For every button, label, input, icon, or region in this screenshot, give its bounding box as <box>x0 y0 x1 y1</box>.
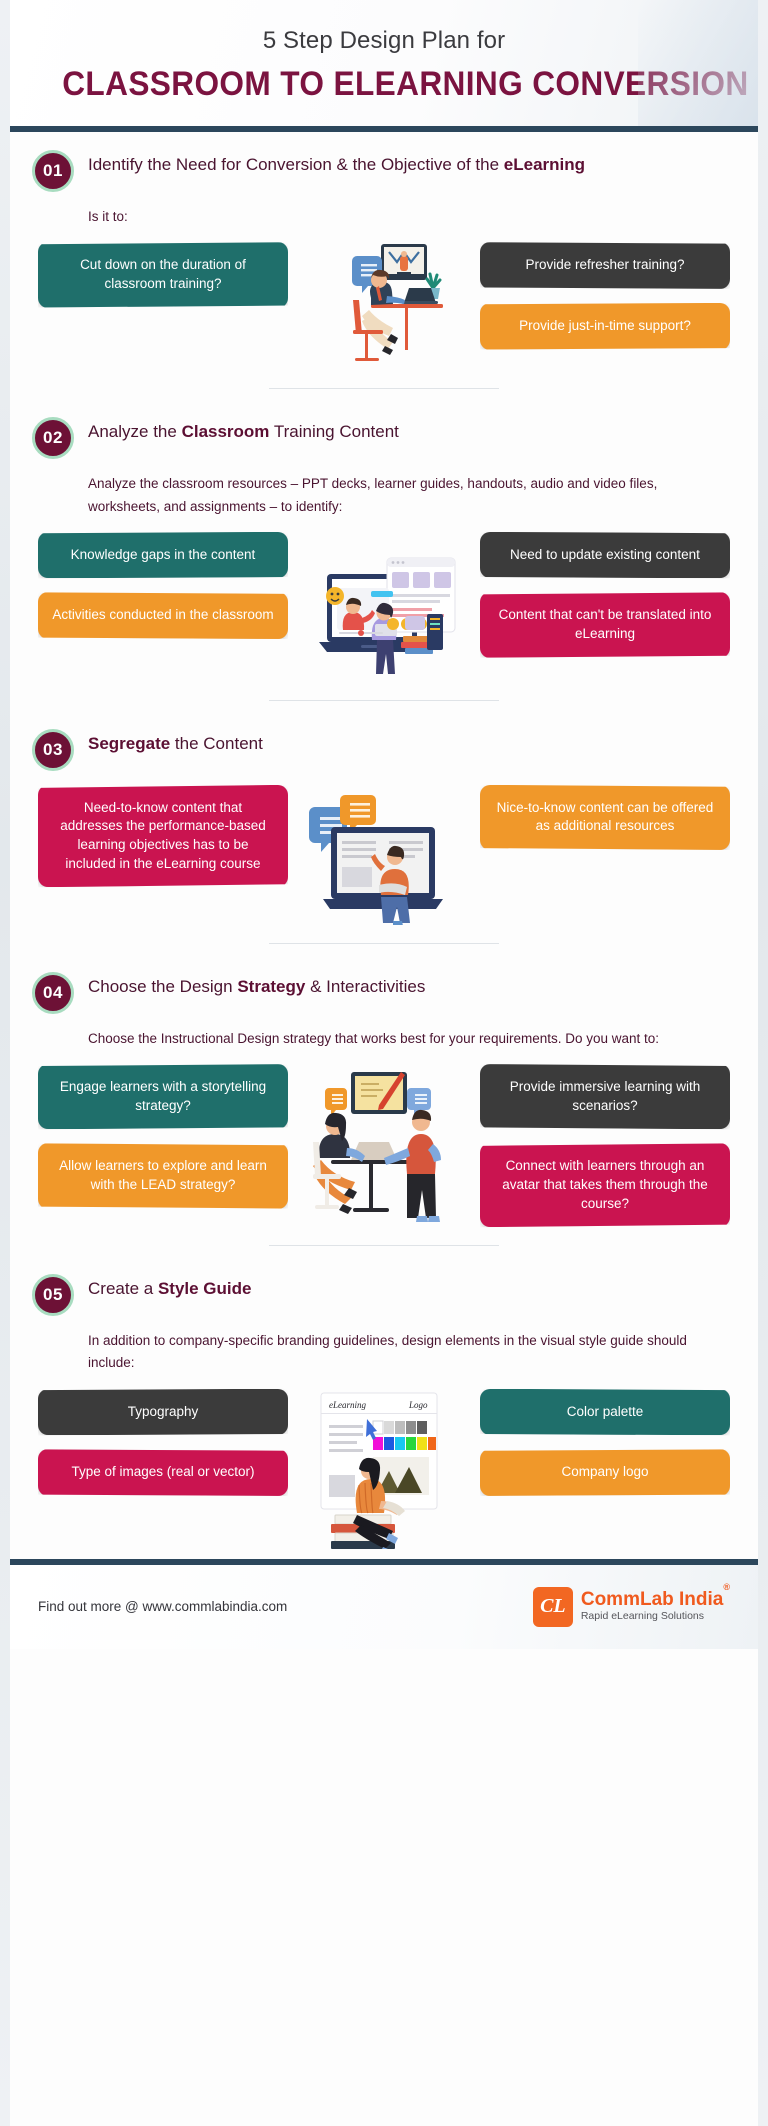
step-02-left-tags: Knowledge gaps in the content Activities… <box>38 532 288 639</box>
step-02-title: Analyze the Classroom Training Content <box>88 415 399 445</box>
tag-provide-refresher-training[interactable]: Provide refresher training? <box>480 242 730 289</box>
step-04-number-badge: 04 <box>32 972 74 1014</box>
tag-cut-down-duration[interactable]: Cut down on the duration of classroom tr… <box>38 242 288 307</box>
step-04-title-bold: Strategy <box>237 977 305 996</box>
right-edge-strip <box>758 0 768 2126</box>
tag-provide-just-in-time-support[interactable]: Provide just-in-time support? <box>480 303 730 350</box>
step-01-body: Cut down on the duration of classroom tr… <box>32 242 736 370</box>
step-04-head: 04 Choose the Design Strategy & Interact… <box>32 970 736 1014</box>
step-04-title: Choose the Design Strategy & Interactivi… <box>88 970 425 1000</box>
step-01-illustration <box>294 242 474 370</box>
step-03-title-bold: Segregate <box>88 734 170 753</box>
step-03-title-tail: the Content <box>170 734 263 753</box>
step-01-title-bold: eLearning <box>504 155 585 174</box>
step-05-body: Typography Type of images (real or vecto… <box>32 1389 736 1549</box>
logo-mark-icon: CL <box>533 1587 573 1627</box>
step-03-right-tags: Nice-to-know content can be offered as a… <box>480 785 730 850</box>
tag-activities-conducted[interactable]: Activities conducted in the classroom <box>38 592 288 639</box>
step-02-head: 02 Analyze the Classroom Training Conten… <box>32 415 736 459</box>
step-04-title-tail: & Interactivities <box>305 977 425 996</box>
step-04-body: Engage learners with a storytelling stra… <box>32 1064 736 1227</box>
step-02-number-badge: 02 <box>32 417 74 459</box>
two-people-at-desk-icon <box>307 1064 462 1224</box>
step-02-separator <box>269 700 499 701</box>
step-02-illustration <box>294 532 474 682</box>
tag-immersive-scenarios[interactable]: Provide immersive learning with scenario… <box>480 1064 730 1129</box>
tag-nice-to-know-content[interactable]: Nice-to-know content can be offered as a… <box>480 785 730 850</box>
step-03-head: 03 Segregate the Content <box>32 727 736 771</box>
step-01-subtext: Is it to: <box>88 206 688 228</box>
step-02-subtext: Analyze the classroom resources – PPT de… <box>88 473 688 518</box>
tag-lead-strategy[interactable]: Allow learners to explore and learn with… <box>38 1143 288 1208</box>
step-02-title-plain: Analyze the <box>88 422 182 441</box>
step-04-separator <box>269 1245 499 1246</box>
step-05-title-plain: Create a <box>88 1279 158 1298</box>
commlab-india-logo[interactable]: CL CommLab India® Rapid eLearning Soluti… <box>533 1587 730 1627</box>
infographic-page: 5 Step Design Plan for CLASSROOM TO ELEA… <box>0 0 768 2126</box>
step-03-title: Segregate the Content <box>88 727 263 757</box>
step-02-title-bold: Classroom <box>182 422 270 441</box>
step-02-right-tags: Need to update existing content Content … <box>480 532 730 658</box>
step-01-separator <box>269 388 499 389</box>
tag-need-to-know-content[interactable]: Need-to-know content that addresses the … <box>38 785 288 888</box>
tag-type-of-images[interactable]: Type of images (real or vector) <box>38 1449 288 1496</box>
style-guide-board-with-woman-icon: eLearning Logo <box>309 1389 459 1549</box>
step-04-illustration <box>294 1064 474 1224</box>
infographic-canvas: 5 Step Design Plan for CLASSROOM TO ELEA… <box>10 0 758 2126</box>
step-01-title-plain: Identify the Need for Conversion & the O… <box>88 155 504 174</box>
step-03-illustration <box>294 785 474 925</box>
header-subtitle: 5 Step Design Plan for <box>38 26 730 56</box>
steps-container: 01 Identify the Need for Conversion & th… <box>10 132 758 1559</box>
step-05: 05 Create a Style Guide In addition to c… <box>10 1256 758 1559</box>
man-at-desk-with-laptop-icon <box>309 242 459 370</box>
left-edge-strip <box>0 0 10 2126</box>
step-02: 02 Analyze the Classroom Training Conten… <box>10 399 758 711</box>
step-03-left-tags: Need-to-know content that addresses the … <box>38 785 288 888</box>
step-04: 04 Choose the Design Strategy & Interact… <box>10 954 758 1256</box>
step-03-number-badge: 03 <box>32 729 74 771</box>
step-04-right-tags: Provide immersive learning with scenario… <box>480 1064 730 1227</box>
step-04-left-tags: Engage learners with a storytelling stra… <box>38 1064 288 1209</box>
step-03-body: Need-to-know content that addresses the … <box>32 785 736 925</box>
step-03: 03 Segregate the Content Need-to-know co… <box>10 711 758 954</box>
step-05-right-tags: Color palette Company logo <box>480 1389 730 1496</box>
step-04-title-plain: Choose the Design <box>88 977 237 996</box>
footer-website-link[interactable]: Find out more @ www.commlabindia.com <box>38 1599 287 1614</box>
header: 5 Step Design Plan for CLASSROOM TO ELEA… <box>10 0 758 126</box>
tag-typography[interactable]: Typography <box>38 1389 288 1436</box>
step-01-right-tags: Provide refresher training? Provide just… <box>480 242 730 349</box>
step-02-title-tail: Training Content <box>269 422 398 441</box>
step-01-left-tags: Cut down on the duration of classroom tr… <box>38 242 288 307</box>
footer: Find out more @ www.commlabindia.com CL … <box>10 1565 758 1649</box>
tag-color-palette[interactable]: Color palette <box>480 1389 730 1436</box>
step-05-left-tags: Typography Type of images (real or vecto… <box>38 1389 288 1496</box>
step-05-illustration: eLearning Logo <box>294 1389 474 1549</box>
step-01-title: Identify the Need for Conversion & the O… <box>88 148 585 178</box>
tag-company-logo[interactable]: Company logo <box>480 1449 730 1496</box>
step-04-subtext: Choose the Instructional Design strategy… <box>88 1028 688 1050</box>
registered-trademark-icon: ® <box>723 1582 730 1592</box>
page-title: CLASSROOM TO ELEARNING CONVERSION <box>62 65 706 104</box>
board-label-logo: Logo <box>408 1400 428 1410</box>
step-01-head: 01 Identify the Need for Conversion & th… <box>32 148 736 192</box>
step-05-number-badge: 05 <box>32 1274 74 1316</box>
step-01-number-badge: 01 <box>32 150 74 192</box>
step-05-title: Create a Style Guide <box>88 1272 251 1302</box>
tag-storytelling-strategy[interactable]: Engage learners with a storytelling stra… <box>38 1064 288 1129</box>
step-05-head: 05 Create a Style Guide <box>32 1272 736 1316</box>
logo-company-name: CommLab India® <box>581 1590 730 1610</box>
laptop-course-interface-icon <box>309 532 459 682</box>
tag-content-not-translatable[interactable]: Content that can't be translated into eL… <box>480 592 730 657</box>
logo-tagline: Rapid eLearning Solutions <box>581 1610 730 1624</box>
step-03-separator <box>269 943 499 944</box>
step-05-subtext: In addition to company-specific branding… <box>88 1330 688 1375</box>
step-02-body: Knowledge gaps in the content Activities… <box>32 532 736 682</box>
tag-need-to-update[interactable]: Need to update existing content <box>480 532 730 579</box>
step-05-title-bold: Style Guide <box>158 1279 252 1298</box>
logo-company-name-text: CommLab India <box>581 1589 724 1610</box>
tag-avatar-course[interactable]: Connect with learners through an avatar … <box>480 1143 730 1227</box>
board-label-elearning: eLearning <box>329 1400 366 1410</box>
step-01: 01 Identify the Need for Conversion & th… <box>10 132 758 399</box>
person-reading-on-laptop-icon <box>309 785 459 925</box>
tag-knowledge-gaps[interactable]: Knowledge gaps in the content <box>38 532 288 579</box>
